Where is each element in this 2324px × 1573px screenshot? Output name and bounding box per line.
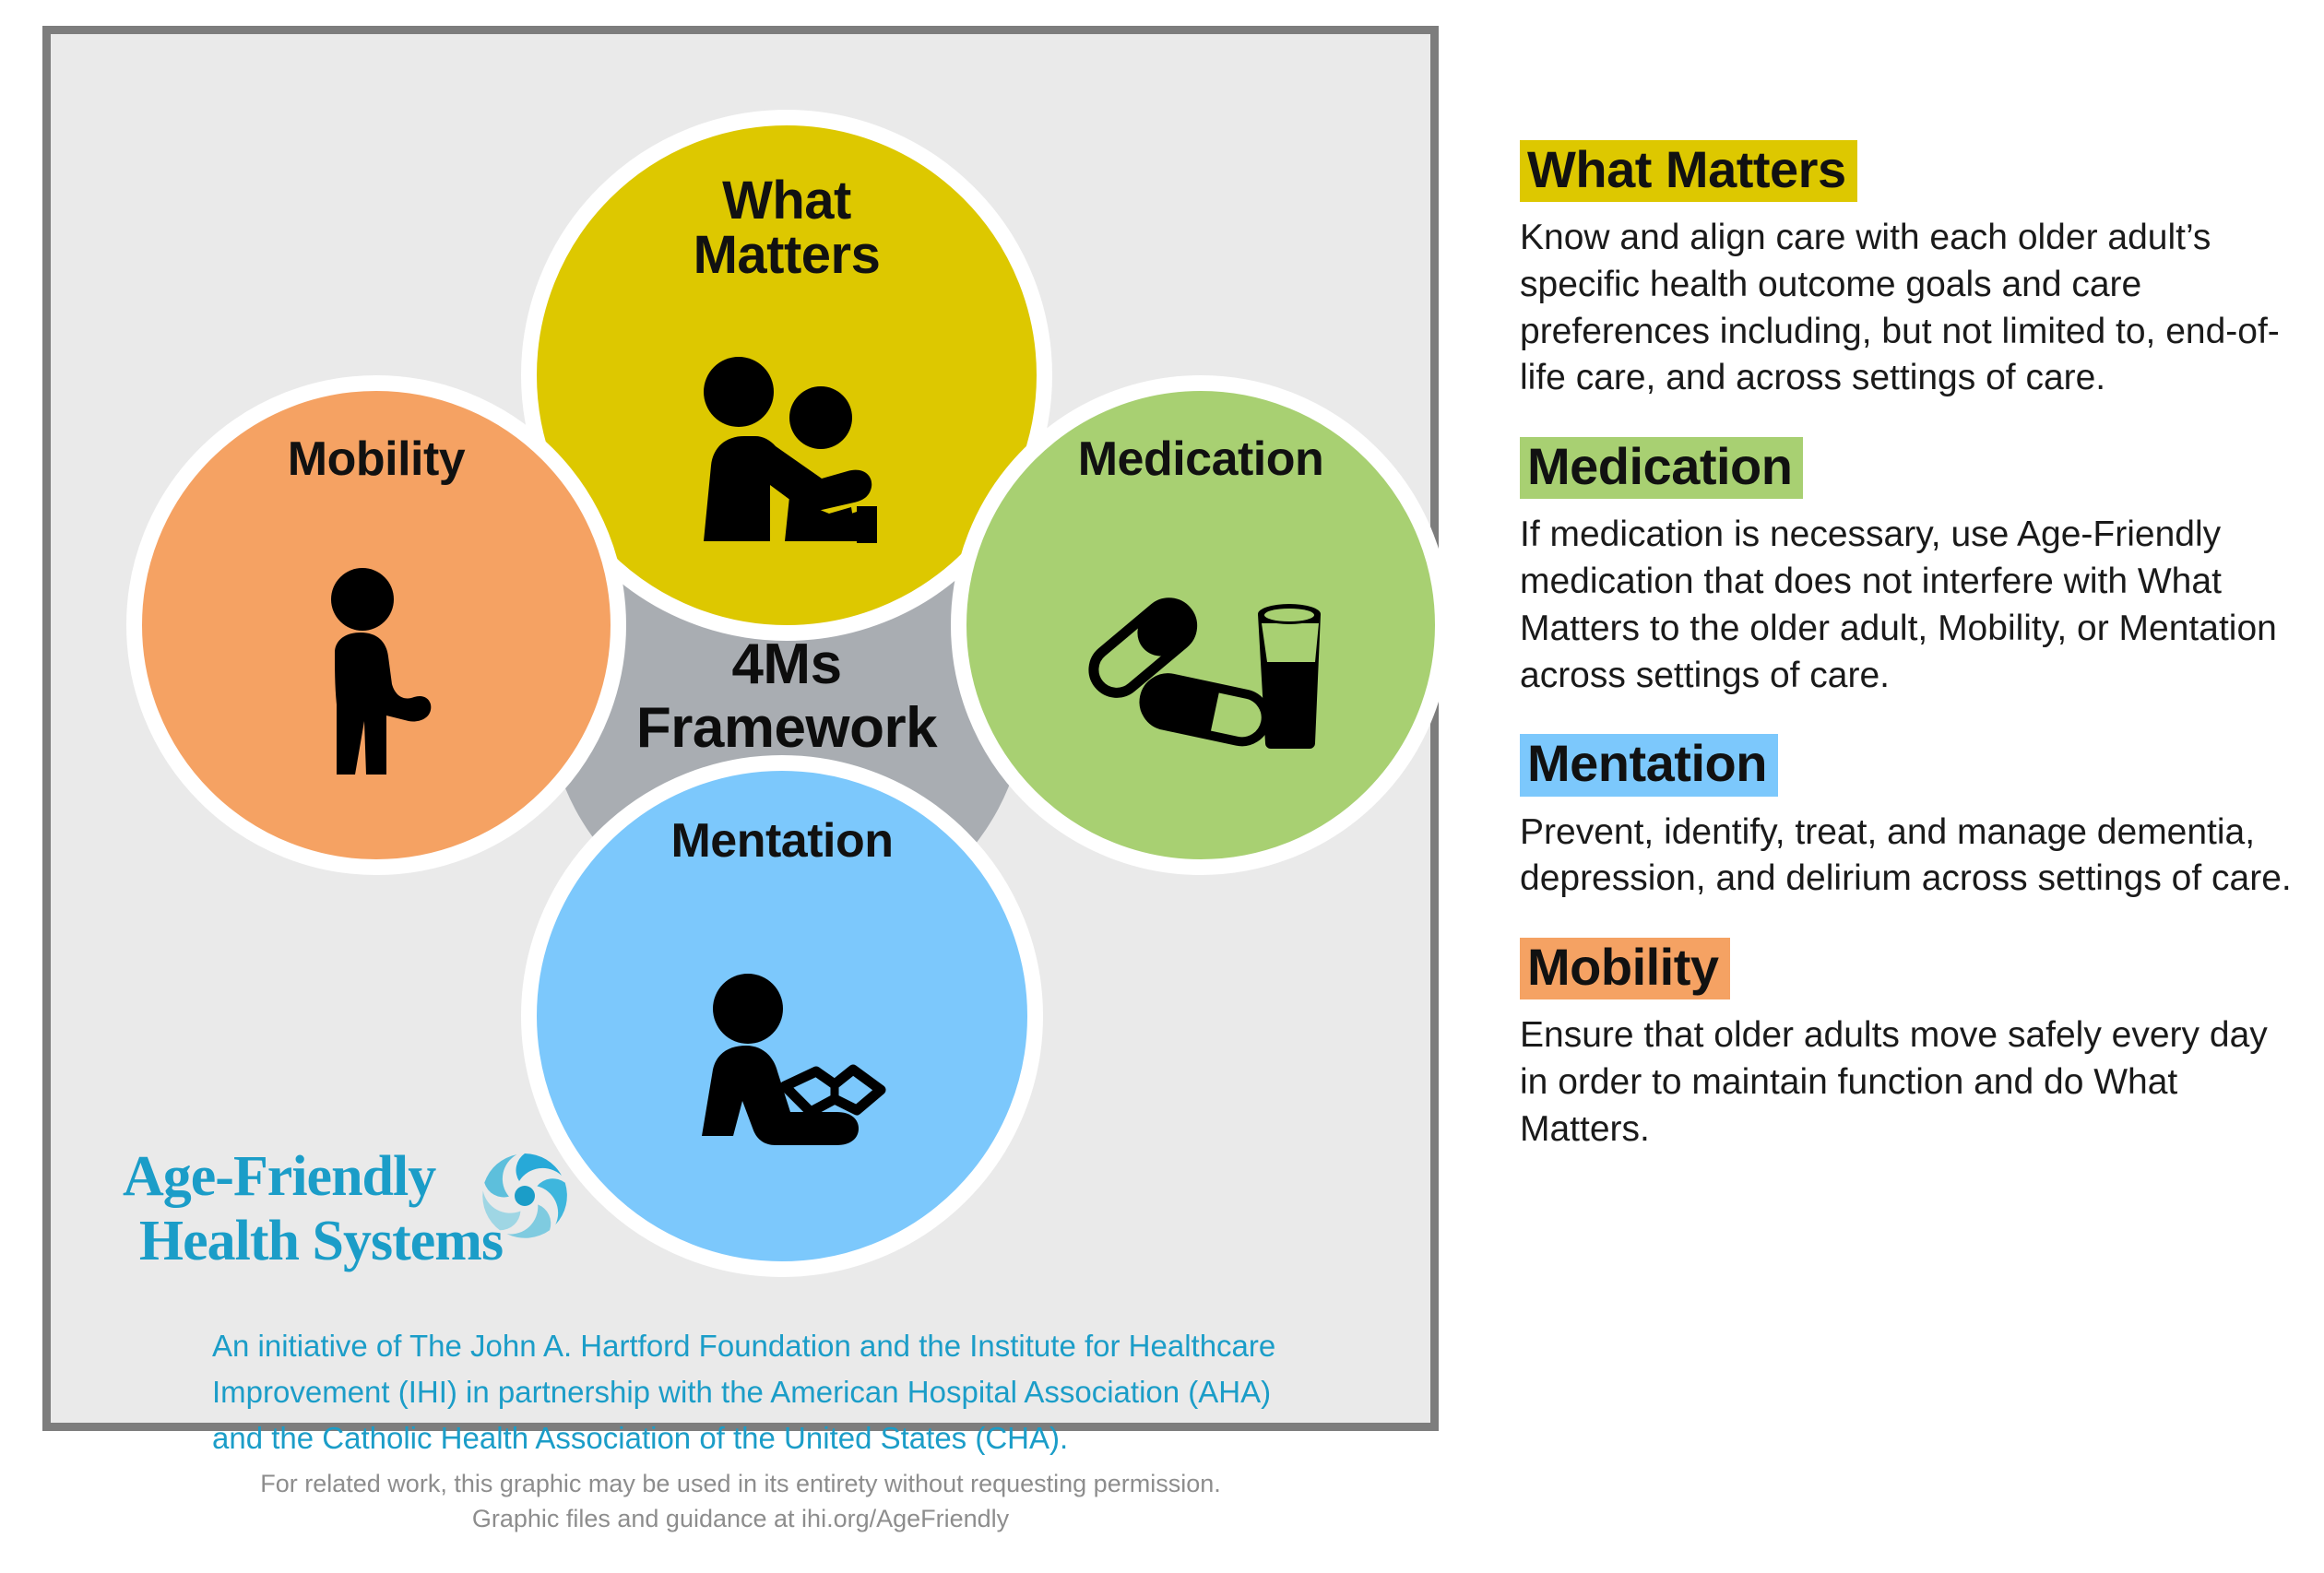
- section-heading-what-matters: What Matters: [1520, 140, 1857, 202]
- section-body-mobility: Ensure that older adults move safely eve…: [1520, 1012, 2294, 1153]
- section-body-mentation: Prevent, identify, treat, and manage dem…: [1520, 810, 2294, 903]
- footer-line1: For related work, this graphic may be us…: [42, 1466, 1439, 1501]
- node-label-mentation: Mentation: [670, 817, 893, 866]
- node-label-line2: Matters: [694, 228, 881, 282]
- hub-label-line1: 4Ms: [731, 633, 841, 696]
- attribution-line1: An initiative of The John A. Hartford Fo…: [212, 1323, 1328, 1369]
- node-label-what-matters: What Matters: [694, 173, 881, 282]
- walking-person-icon: [142, 484, 611, 859]
- definitions-column: What Matters Know and align care with ea…: [1520, 140, 2294, 1153]
- node-medication[interactable]: Medication: [951, 375, 1451, 875]
- node-label-medication: Medication: [1078, 435, 1324, 484]
- section-medication: Medication If medication is necessary, u…: [1520, 437, 2294, 699]
- diagram-panel: 4Ms Framework What Matters: [42, 26, 1439, 1431]
- footer-line2: Graphic files and guidance at ihi.org/Ag…: [42, 1501, 1439, 1536]
- section-heading-medication: Medication: [1520, 437, 1803, 499]
- attribution-line2: Improvement (IHI) in partnership with th…: [212, 1369, 1328, 1415]
- section-heading-mobility: Mobility: [1520, 938, 1730, 999]
- hub-label-line2: Framework: [636, 696, 937, 760]
- 4ms-circle-diagram: 4Ms Framework What Matters: [150, 89, 1368, 1297]
- logo-line2: Health Systems: [123, 1212, 519, 1270]
- section-body-what-matters: Know and align care with each older adul…: [1520, 215, 2294, 402]
- pills-and-glass-icon: [966, 488, 1435, 859]
- section-heading-mentation: Mentation: [1520, 734, 1778, 796]
- node-mobility[interactable]: Mobility: [126, 375, 626, 875]
- node-label-mobility: Mobility: [288, 435, 465, 484]
- footer-note: For related work, this graphic may be us…: [42, 1466, 1439, 1537]
- attribution-text: An initiative of The John A. Hartford Fo…: [212, 1323, 1328, 1461]
- section-body-medication: If medication is necessary, use Age-Frie…: [1520, 512, 2294, 699]
- attribution-line3: and the Catholic Health Association of t…: [212, 1415, 1328, 1461]
- age-friendly-health-systems-logo: Age-Friendly Health Systems: [123, 1148, 602, 1300]
- section-what-matters: What Matters Know and align care with ea…: [1520, 140, 2294, 402]
- section-mobility: Mobility Ensure that older adults move s…: [1520, 938, 2294, 1153]
- section-mentation: Mentation Prevent, identify, treat, and …: [1520, 734, 2294, 903]
- node-label-line1: What: [694, 173, 881, 228]
- swirl-icon: [475, 1146, 575, 1250]
- person-reading-book-icon: [537, 866, 1027, 1261]
